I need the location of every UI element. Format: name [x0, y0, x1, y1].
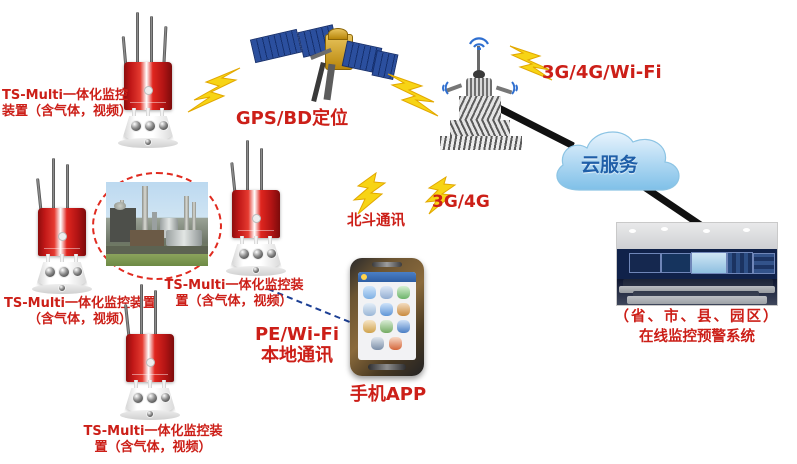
label-control-room-line1: （省、市、县、园区） [604, 308, 790, 326]
cloud-icon: 云服务 [545, 120, 691, 200]
label-3g4g: 3G/4G [432, 192, 512, 213]
monitoring-device-icon-3 [216, 140, 306, 280]
monitoring-device-icon-1 [108, 12, 198, 152]
label-3g-4g-wifi: 3G/4G/Wi-Fi [542, 62, 712, 85]
label-beidou: 北斗通讯 [330, 212, 422, 230]
label-control-room-line2: 在线监控预警系统 [604, 328, 790, 346]
monitoring-device-icon-2 [22, 158, 112, 298]
handheld-app-icon[interactable] [350, 258, 424, 376]
satellite-icon [250, 8, 378, 104]
control-room-photo [616, 222, 778, 306]
diagram-canvas: GPS/BD定位 3G/4G/Wi-Fi [0, 0, 797, 464]
label-local-comm: PE/Wi-Fi 本地通讯 [232, 325, 362, 366]
lightning-icon-beidou [352, 172, 388, 216]
label-device-4: TS-Multi一体化监控装 置（含气体，视频） [78, 424, 228, 457]
label-gps-bd: GPS/BD定位 [222, 108, 362, 131]
cell-tower-icon [432, 24, 530, 150]
label-device-1: TS-Multi一体化监控 装置（含气体，视频） [2, 88, 128, 121]
industrial-plant-photo [106, 182, 208, 266]
cloud-label: 云服务 [581, 150, 638, 177]
label-phone-app: 手机APP [332, 384, 444, 407]
monitoring-device-icon-4 [110, 284, 200, 424]
